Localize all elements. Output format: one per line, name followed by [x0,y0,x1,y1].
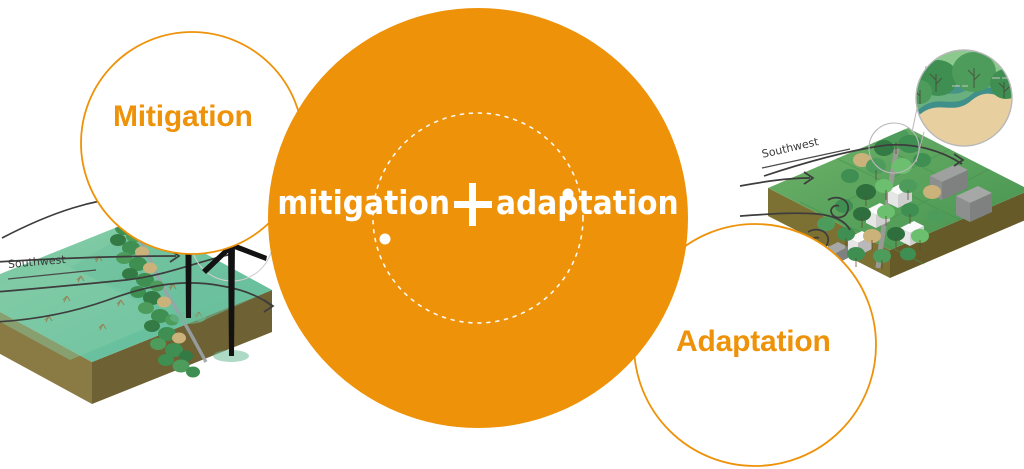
diagram-canvas: mitigationadaptation Mitigation Adaptati… [0,0,1024,469]
mitigation-label: Mitigation [113,100,253,134]
mitigation-adaptation-circle[interactable] [0,0,1024,469]
adaptation-label: Adaptation [676,325,831,359]
ring-dot [380,234,391,245]
center-equation: mitigationadaptation [268,186,688,219]
center-text-adaptation: adaptation [496,183,679,222]
plus-icon [450,204,496,205]
center-text-mitigation: mitigation [277,183,450,222]
